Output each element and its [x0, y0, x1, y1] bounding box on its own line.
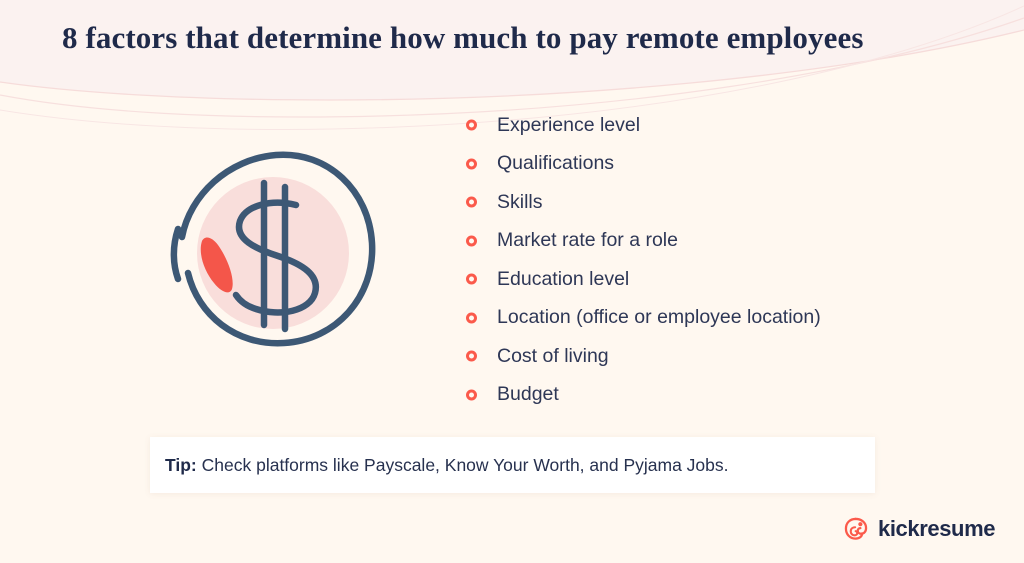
kickresume-logo: kickresume — [842, 515, 995, 543]
list-item-label: Market rate for a role — [497, 231, 678, 251]
list-item: Education level — [466, 260, 966, 299]
kickresume-chameleon-icon — [842, 515, 870, 543]
bullet-circle-icon — [466, 158, 477, 169]
list-item: Location (office or employee location) — [466, 299, 966, 338]
factors-list: Experience level Qualifications Skills M… — [466, 106, 966, 414]
bullet-circle-icon — [466, 197, 477, 208]
list-item-label: Education level — [497, 270, 629, 290]
tip-text: Tip: Check platforms like Payscale, Know… — [150, 455, 729, 476]
list-item: Qualifications — [466, 145, 966, 184]
list-item: Budget — [466, 376, 966, 415]
coin-outline-tail — [174, 229, 178, 279]
kickresume-wordmark: kickresume — [878, 516, 995, 542]
tip-label: Tip: — [165, 455, 197, 475]
bullet-circle-icon — [466, 389, 477, 400]
list-item-label: Location (office or employee location) — [497, 308, 821, 328]
page-title: 8 factors that determine how much to pay… — [62, 20, 972, 56]
tip-callout-box: Tip: Check platforms like Payscale, Know… — [150, 437, 875, 493]
list-item-label: Skills — [497, 193, 543, 213]
list-item: Experience level — [466, 106, 966, 145]
bullet-circle-icon — [466, 120, 477, 131]
dollar-coin-illustration — [160, 143, 382, 365]
infographic-slide: 8 factors that determine how much to pay… — [0, 0, 1024, 563]
bullet-circle-icon — [466, 351, 477, 362]
bullet-circle-icon — [466, 235, 477, 246]
tip-body: Check platforms like Payscale, Know Your… — [197, 455, 729, 475]
list-item-label: Experience level — [497, 116, 640, 136]
bullet-circle-icon — [466, 274, 477, 285]
list-item: Skills — [466, 183, 966, 222]
list-item: Market rate for a role — [466, 222, 966, 261]
list-item-label: Budget — [497, 385, 559, 405]
bullet-circle-icon — [466, 312, 477, 323]
list-item: Cost of living — [466, 337, 966, 376]
list-item-label: Cost of living — [497, 347, 609, 367]
list-item-label: Qualifications — [497, 154, 614, 174]
